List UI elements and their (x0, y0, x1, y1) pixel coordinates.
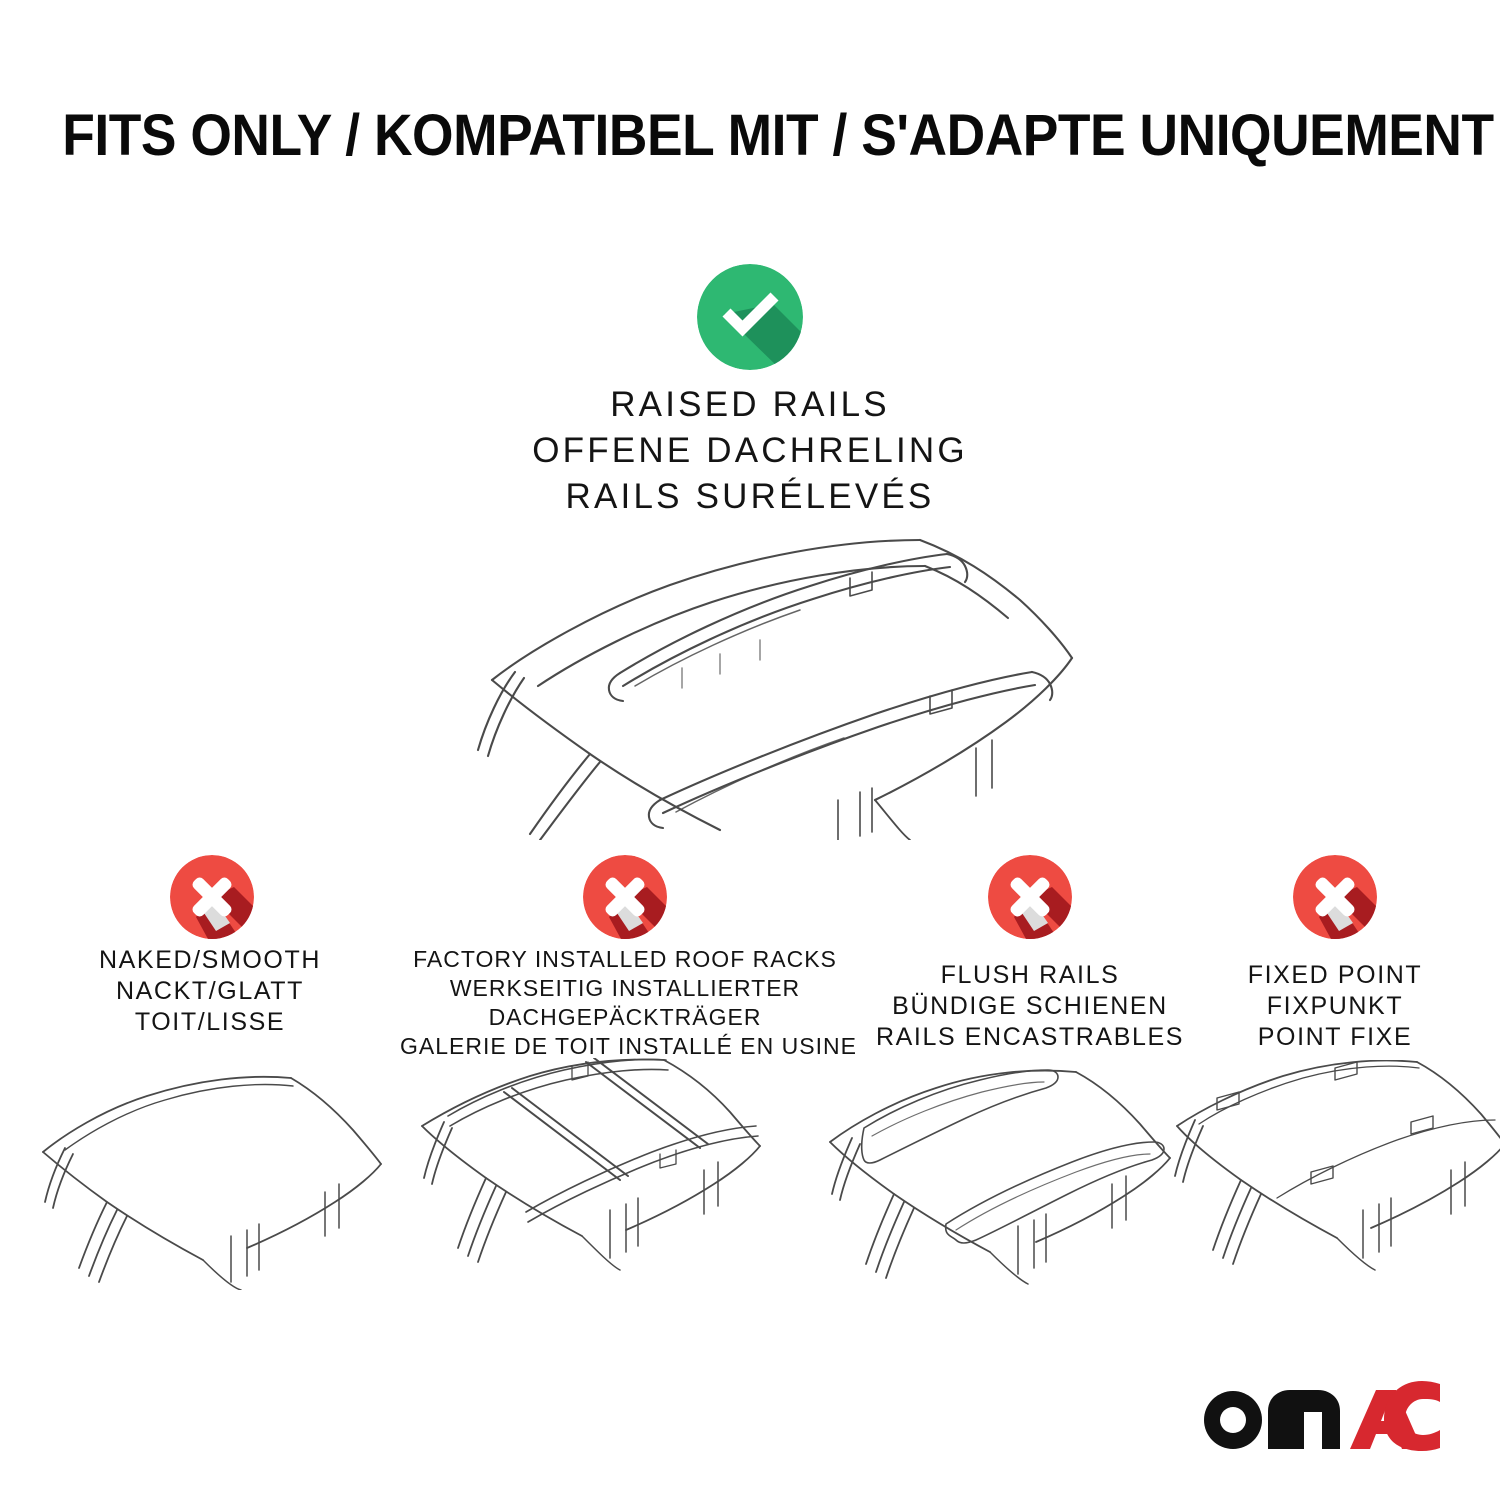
incompatible-caption-line: RAILS ENCASTRABLES (855, 1022, 1205, 1053)
incompatible-caption-line: NACKT/GLATT (30, 976, 390, 1007)
cross-circle-icon (170, 855, 254, 939)
incompatible-caption-3: FLUSH RAILS BÜNDIGE SCHIENEN RAILS ENCAS… (855, 960, 1205, 1053)
page-title-text: FITS ONLY / KOMPATIBEL MIT / S'ADAPTE UN… (62, 104, 1493, 168)
incompatible-caption-line: DACHGEPÄCKTRÄGER (400, 1003, 850, 1032)
incompatible-caption-4: FIXED POINT FIXPUNKT POINT FIXE (1185, 960, 1485, 1053)
incompatible-caption-1: NAKED/SMOOTH NACKT/GLATT TOIT/LISSE (30, 945, 390, 1038)
check-circle-icon (697, 264, 803, 370)
incompatible-caption-line: FACTORY INSTALLED ROOF RACKS (400, 945, 850, 974)
compatible-caption-line: OFFENE DACHRELING (350, 428, 1150, 474)
incompatible-caption-line: GALERIE DE TOIT INSTALLÉ EN USINE (400, 1032, 850, 1061)
roof-flush-rails-illustration (820, 1060, 1180, 1290)
incompatible-caption-2: FACTORY INSTALLED ROOF RACKS WERKSEITIG … (400, 945, 850, 1061)
roof-factory-rack-illustration (408, 1058, 768, 1290)
cross-circle-icon (583, 855, 667, 939)
cross-circle-icon (1293, 855, 1377, 939)
page-title: FITS ONLY / KOMPATIBEL MIT / S'ADAPTE UN… (0, 104, 1500, 168)
incompatible-caption-line: FIXED POINT (1185, 960, 1485, 991)
roof-fixed-point-illustration (1165, 1060, 1500, 1290)
compatible-caption-line: RAISED RAILS (350, 382, 1150, 428)
incompatible-caption-line: FLUSH RAILS (855, 960, 1205, 991)
omac-logo (1200, 1380, 1440, 1452)
incompatible-caption-line: BÜNDIGE SCHIENEN (855, 991, 1205, 1022)
incompatible-caption-line: WERKSEITIG INSTALLIERTER (400, 974, 850, 1003)
incompatible-caption-line: POINT FIXE (1185, 1022, 1485, 1053)
cross-circle-icon (988, 855, 1072, 939)
incompatible-caption-line: FIXPUNKT (1185, 991, 1485, 1022)
roof-raised-rails-illustration (420, 500, 1080, 840)
roof-naked-smooth-illustration (35, 1060, 385, 1290)
incompatible-caption-line: NAKED/SMOOTH (30, 945, 390, 976)
incompatible-caption-line: TOIT/LISSE (30, 1007, 390, 1038)
